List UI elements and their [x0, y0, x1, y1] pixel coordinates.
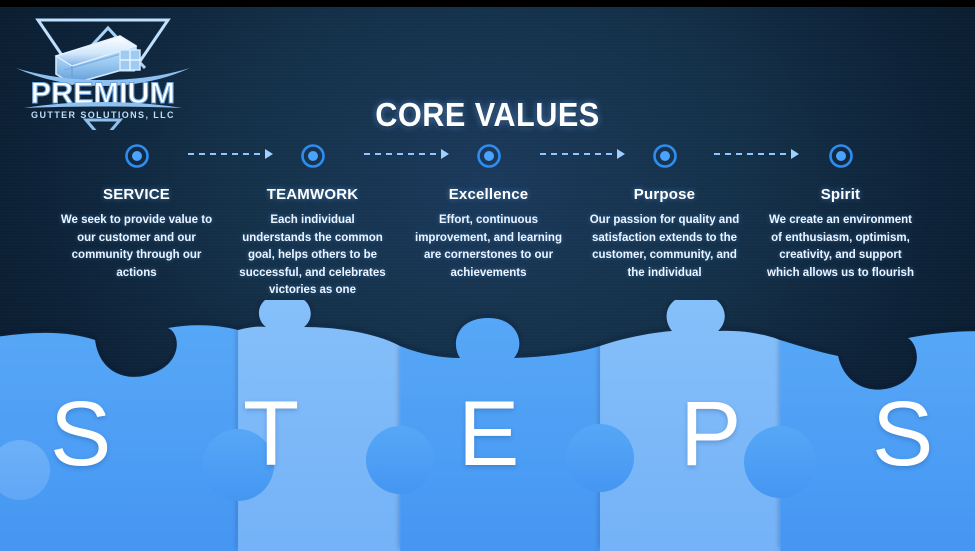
value-title: Excellence	[449, 186, 529, 203]
value-column-purpose[interactable]: Purpose Our passion for quality and sati…	[577, 143, 752, 318]
value-column-teamwork[interactable]: TEAMWORK Each individual understands the…	[225, 143, 400, 318]
dashed-arrow-right-icon	[540, 148, 625, 160]
target-circle-icon	[476, 143, 502, 169]
house-gutter-shield-icon	[38, 20, 168, 84]
puzzle-piece	[600, 300, 780, 551]
target-circle-icon	[652, 143, 678, 169]
value-description: Effort, continuous improvement, and lear…	[413, 212, 565, 282]
puzzle-piece	[238, 300, 400, 551]
dashed-arrow-right-icon	[188, 148, 273, 160]
value-description: Each individual understands the common g…	[237, 212, 389, 300]
puzzle-piece	[400, 318, 600, 551]
value-title: Purpose	[634, 186, 695, 203]
value-column-excellence[interactable]: Excellence Effort, continuous improvemen…	[401, 143, 576, 318]
value-column-spirit[interactable]: Spirit We create an environment of enthu…	[753, 143, 928, 318]
value-column-service[interactable]: SERVICE We seek to provide value to our …	[49, 143, 224, 318]
top-letterbox-bar	[0, 0, 975, 7]
puzzle-piece	[0, 325, 238, 551]
core-values-row: SERVICE We seek to provide value to our …	[0, 143, 975, 318]
value-description: We create an environment of enthusiasm, …	[765, 212, 917, 282]
dashed-arrow-right-icon	[364, 148, 449, 160]
target-circle-icon	[828, 143, 854, 169]
target-circle-icon	[300, 143, 326, 169]
value-description: We seek to provide value to our customer…	[61, 212, 213, 282]
target-circle-icon	[124, 143, 150, 169]
puzzle-band	[0, 300, 975, 551]
value-title: TEAMWORK	[267, 186, 359, 203]
slide-canvas: S T E P S	[0, 0, 975, 551]
value-title: Spirit	[821, 186, 861, 203]
value-description: Our passion for quality and satisfaction…	[589, 212, 741, 282]
dashed-arrow-right-icon	[714, 148, 799, 160]
page-title: CORE VALUES	[34, 96, 941, 134]
value-title: SERVICE	[103, 186, 170, 203]
